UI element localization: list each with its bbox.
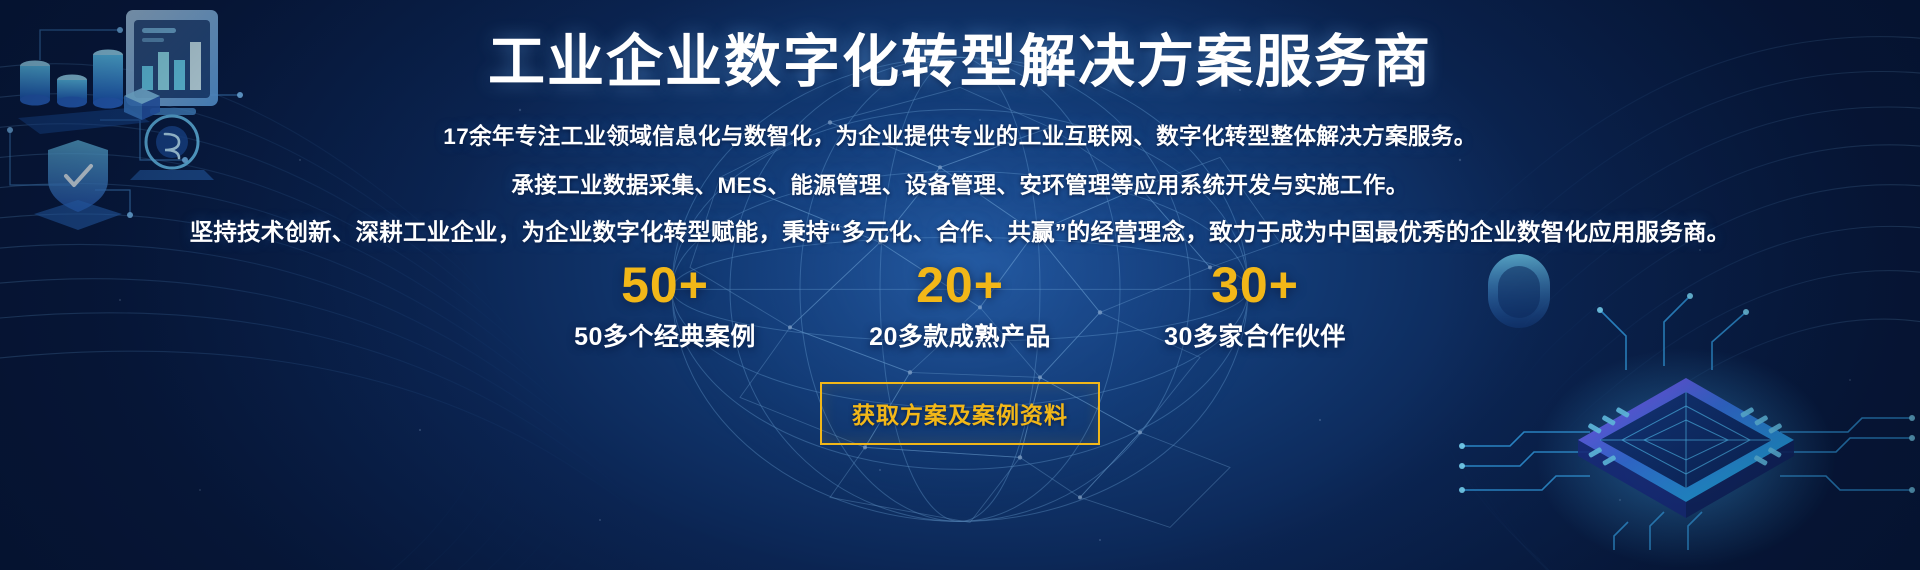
get-solution-materials-button[interactable]: 获取方案及案例资料 (820, 382, 1100, 445)
stat-item-cases: 50+ 50多个经典案例 (520, 258, 810, 353)
page-title: 工业企业数字化转型解决方案服务商 (0, 33, 1920, 93)
subtitle-line-1: 17余年专注工业领域信息化与数智化，为企业提供专业的工业互联网、数字化转型整体解… (0, 119, 1920, 151)
stat-label: 20多款成熟产品 (815, 317, 1105, 353)
stats-row: 50+ 50多个经典案例 20+ 20多款成熟产品 30+ 30多家合作伙伴 (520, 258, 1400, 353)
subtitle-line-2: 承接工业数据采集、MES、能源管理、设备管理、安环管理等应用系统开发与实施工作。 (0, 168, 1920, 200)
subtitle-line-3: 坚持技术创新、深耕工业企业，为企业数字化转型赋能，秉持“多元化、合作、共赢”的经… (0, 213, 1920, 247)
stat-number: 30+ (1110, 258, 1400, 312)
stat-item-partners: 30+ 30多家合作伙伴 (1110, 258, 1400, 353)
stat-label: 50多个经典案例 (520, 317, 810, 353)
stat-number: 20+ (815, 258, 1105, 312)
hero-banner: 工业企业数字化转型解决方案服务商 17余年专注工业领域信息化与数智化，为企业提供… (0, 0, 1920, 570)
stat-item-products: 20+ 20多款成熟产品 (815, 258, 1105, 353)
banner-content: 工业企业数字化转型解决方案服务商 17余年专注工业领域信息化与数智化，为企业提供… (0, 0, 1920, 570)
stat-number: 50+ (520, 258, 810, 312)
stat-label: 30多家合作伙伴 (1110, 317, 1400, 353)
